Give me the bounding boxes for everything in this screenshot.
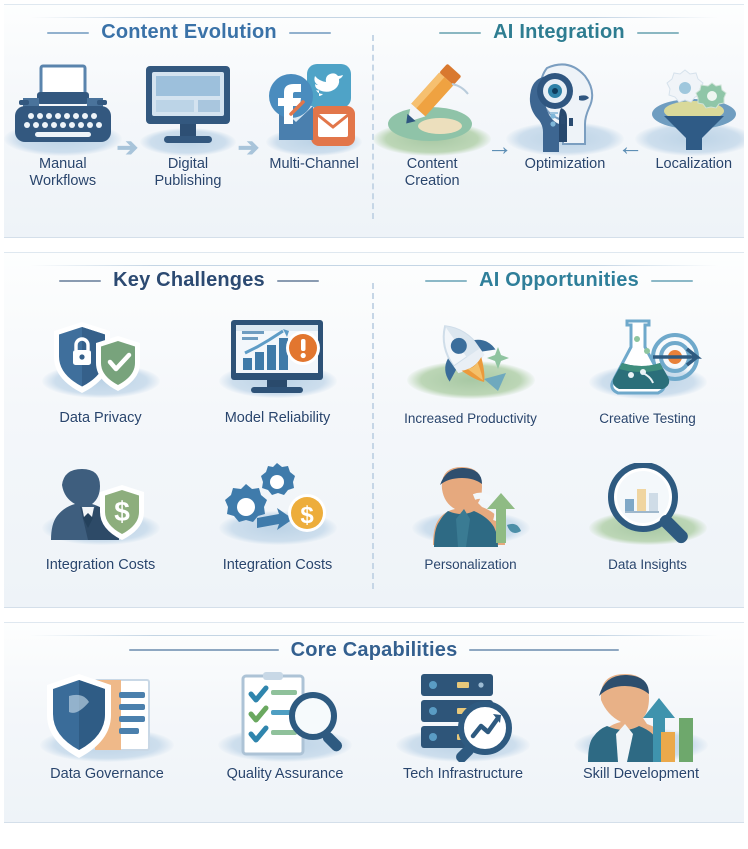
item-label: Increased Productivity [404, 411, 537, 427]
item-label: Content Creation [405, 156, 460, 189]
item-creative-testing: Creative Testing [559, 298, 736, 445]
svg-text:$: $ [114, 496, 130, 527]
item-label: Data Insights [608, 557, 687, 573]
item-tech-infrastructure: Tech Infrastructure [399, 670, 527, 783]
section-content-evolution: Content Evolution [4, 5, 374, 237]
monitor-alert-chart-icon [219, 316, 337, 400]
item-label: Creative Testing [599, 411, 696, 427]
checklist-magnifier-icon [221, 670, 349, 762]
item-model-reliability: Model Reliability [189, 298, 366, 445]
section-ai-integration: AI Integration [374, 5, 744, 237]
infographic-poster: Content Evolution [0, 0, 748, 849]
item-optimization: Optimization [517, 58, 613, 173]
item-manual-workflows: Manual Workflows [11, 60, 115, 189]
item-content-creation: Content Creation [382, 58, 482, 189]
item-label: Integration Costs [46, 557, 156, 574]
section-title-core-capabilities: Core Capabilities [4, 623, 744, 662]
typewriter-icon [11, 60, 115, 152]
item-data-governance: Data Governance [43, 670, 171, 783]
item-data-insights: Data Insights [559, 445, 736, 592]
flask-target-icon [589, 317, 707, 401]
section-title-text: Key Challenges [113, 269, 265, 292]
item-data-privacy: Data Privacy [12, 298, 189, 445]
gears-dollar-icon: $ [219, 463, 337, 547]
title-rule-right [289, 32, 331, 34]
shield-lock-icon [42, 316, 160, 400]
title-rule-left [59, 280, 101, 282]
person-growth-chart-icon [577, 670, 705, 762]
section-title-text: AI Opportunities [479, 269, 639, 292]
item-label: Integration Costs [223, 557, 333, 574]
server-stack-magnifier-icon [399, 670, 527, 762]
section-ai-opportunities: AI Opportunities [374, 253, 744, 606]
item-label: Data Privacy [59, 410, 141, 427]
person-arrow-icon [412, 463, 530, 547]
social-channels-icon [261, 60, 367, 152]
item-label: Localization [655, 156, 732, 173]
section-title-text: AI Integration [493, 21, 625, 44]
item-label: Skill Development [583, 766, 699, 783]
desktop-monitor-icon [140, 60, 236, 152]
arrow-right-icon: ➔ [238, 134, 260, 160]
rocket-icon [412, 317, 530, 401]
title-rule-left [439, 32, 481, 34]
panel-row-middle: Key Challenges [4, 252, 744, 607]
item-increased-productivity: Increased Productivity [382, 298, 559, 445]
gears-funnel-icon [648, 58, 740, 152]
ai-integration-items: Content Creation → [374, 44, 744, 189]
panel-row-top: Content Evolution [4, 4, 744, 238]
item-label: Quality Assurance [227, 766, 344, 783]
magnifier-chart-icon [589, 463, 707, 547]
item-label: Tech Infrastructure [403, 766, 523, 783]
section-title-key-challenges: Key Challenges [4, 253, 374, 292]
title-rule-left [47, 32, 89, 34]
item-multi-channel: Multi-Channel [261, 60, 367, 173]
key-challenges-grid: Data Privacy [4, 292, 374, 599]
item-quality-assurance: Quality Assurance [221, 670, 349, 783]
title-rule-left [129, 649, 279, 651]
title-rule-right [469, 649, 619, 651]
panel-row-bottom: Core Capabilities [4, 622, 744, 823]
title-rule-right [277, 280, 319, 282]
core-capabilities-row: Data Governance [4, 662, 744, 783]
ai-opportunities-grid: Increased Productivity [374, 292, 744, 599]
item-integration-costs-person: $ Integration Costs [12, 445, 189, 592]
item-localization: Localization [648, 58, 740, 173]
item-label: Model Reliability [225, 410, 331, 427]
title-rule-left [425, 280, 467, 282]
ai-robot-head-icon [517, 58, 613, 152]
pencil-icon [382, 58, 482, 152]
section-title-text: Content Evolution [101, 21, 277, 44]
item-label: Data Governance [50, 766, 164, 783]
section-title-ai-opportunities: AI Opportunities [374, 253, 744, 292]
title-rule-right [651, 280, 693, 282]
section-key-challenges: Key Challenges [4, 253, 374, 606]
section-core-capabilities: Core Capabilities [4, 623, 744, 822]
item-label: Personalization [424, 557, 516, 573]
title-rule-right [637, 32, 679, 34]
item-digital-publishing: Digital Publishing [140, 60, 236, 189]
item-label: Digital Publishing [155, 156, 222, 189]
item-skill-development: Skill Development [577, 670, 705, 783]
item-label: Multi-Channel [269, 156, 358, 173]
svg-text:$: $ [300, 502, 314, 529]
section-title-content-evolution: Content Evolution [4, 5, 374, 44]
section-title-text: Core Capabilities [291, 639, 458, 662]
section-title-ai-integration: AI Integration [374, 5, 744, 44]
content-evolution-items: Manual Workflows ➔ [4, 44, 374, 189]
item-personalization: Personalization [382, 445, 559, 592]
item-integration-costs-gears: $ Integration Costs [189, 445, 366, 592]
item-label: Optimization [525, 156, 606, 173]
person-shield-dollar-icon: $ [42, 463, 160, 547]
item-label: Manual Workflows [30, 156, 97, 189]
shield-document-icon [43, 670, 171, 762]
